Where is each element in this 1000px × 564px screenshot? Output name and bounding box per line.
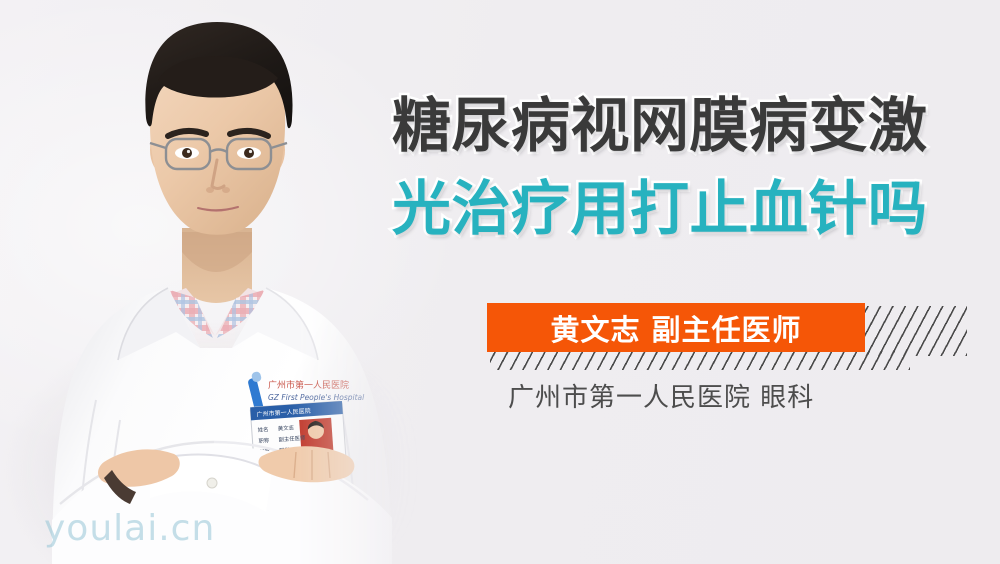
video-thumbnail-poster: 广州市第一人民医院 GZ First People's Hospital Sin…: [0, 0, 1000, 564]
site-watermark: youlai.cn: [44, 508, 215, 549]
headline-block: 糖尿病视网膜病变激 光治疗用打止血针吗: [392, 96, 992, 238]
svg-text:GZ First People's Hospital: GZ First People's Hospital: [268, 393, 365, 402]
doctor-name-badge-zone: 黄文志 副主任医师: [487, 303, 897, 373]
headline-line-1: 糖尿病视网膜病变激: [392, 96, 992, 155]
doctor-name-badge: 黄文志 副主任医师: [487, 303, 865, 352]
hospital-department-label: 广州市第一人民医院 眼科: [508, 377, 814, 414]
doctor-portrait-image: 广州市第一人民医院 GZ First People's Hospital Sin…: [0, 0, 430, 564]
svg-text:广州市第一人民医院: 广州市第一人民医院: [268, 379, 349, 391]
hatch-decoration-bottom: [490, 351, 910, 370]
headline-line-2: 光治疗用打止血针吗: [392, 179, 992, 238]
doctor-name-title-label: 黄文志 副主任医师: [550, 307, 801, 349]
doctor-portrait: 广州市第一人民医院 GZ First People's Hospital Sin…: [0, 0, 430, 564]
hatch-decoration-right: [857, 306, 967, 356]
